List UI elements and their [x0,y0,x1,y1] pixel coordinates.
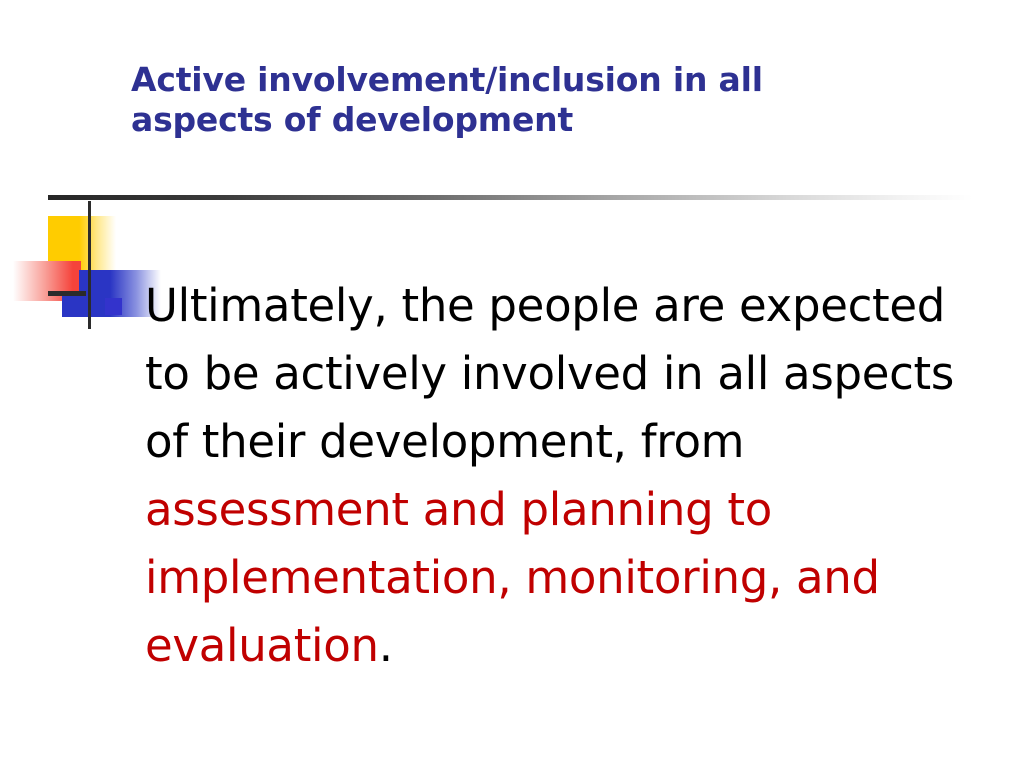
slide-canvas: Active involvement/inclusion in all aspe… [0,0,1024,768]
square-bullet-icon [105,298,122,315]
deco-yellow-square [48,216,116,277]
title-divider-line [48,195,973,200]
bullet-segment-highlight: assessment and planning to implementatio… [145,483,880,672]
slide-title-line-1: Active involvement/inclusion in all [131,60,951,100]
bullet-list-item: Ultimately, the people are expected to b… [100,272,980,680]
slide-body: Ultimately, the people are expected to b… [100,272,980,680]
slide-title-line-2: aspects of development [131,100,951,140]
bullet-segment-black-tail: . [379,619,393,672]
deco-red-square [13,261,81,301]
bullet-item-text: Ultimately, the people are expected to b… [145,279,954,672]
deco-horizontal-rule-stub [48,291,86,296]
deco-vertical-rule [88,201,91,329]
slide-title: Active involvement/inclusion in all aspe… [131,60,951,139]
bullet-segment-black-lead: Ultimately, the people are expected to b… [145,279,954,468]
